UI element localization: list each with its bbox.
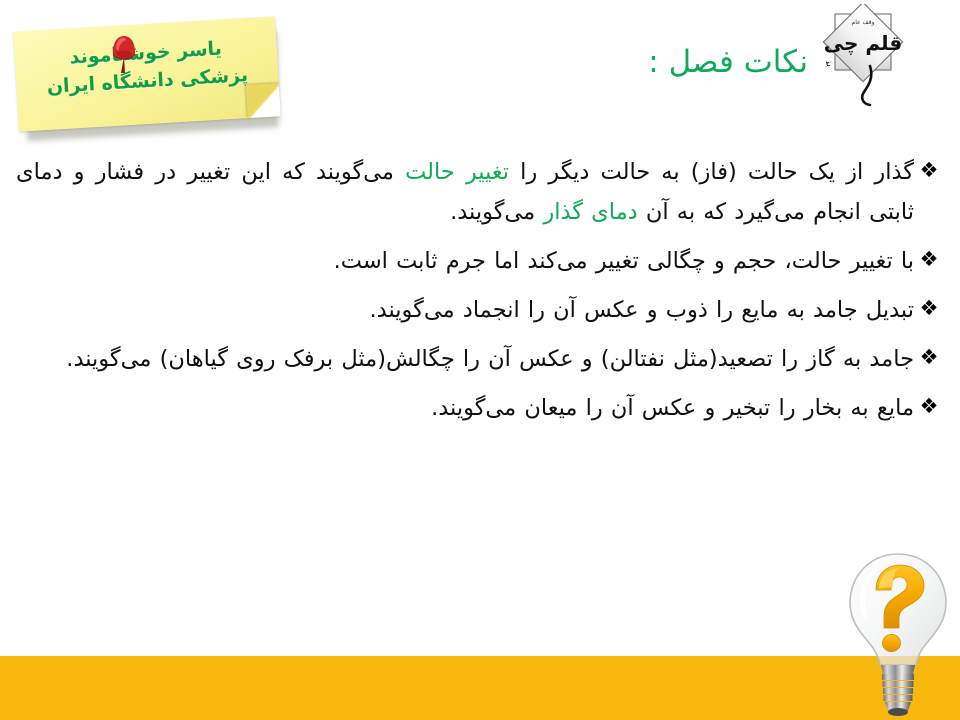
logo-top-text: وقف عام bbox=[851, 19, 874, 26]
text-run: جامد به گاز را تصعید(مثل نفتالن) و عکس آ… bbox=[66, 346, 914, 372]
bullet-text: جامد به گاز را تصعید(مثل نفتالن) و عکس آ… bbox=[16, 339, 914, 379]
sticky-note-paper: یاسر خوشناموند پزشکی دانشگاه ایران bbox=[13, 16, 280, 131]
sticky-note: یاسر خوشناموند پزشکی دانشگاه ایران bbox=[12, 24, 292, 136]
highlighted-term: تغییر حالت bbox=[405, 159, 509, 185]
slide-canvas: یاسر خوشناموند پزشکی دانشگاه ایران bbox=[0, 0, 960, 720]
bullet-item: ❖با تغییر حالت، حجم و چگالی تغییر می‌کند… bbox=[16, 241, 944, 281]
bottom-color-band bbox=[0, 656, 960, 720]
bullet-marker-icon: ❖ bbox=[914, 288, 944, 328]
sticky-note-text: یاسر خوشناموند پزشکی دانشگاه ایران bbox=[14, 32, 279, 103]
bullet-item: ❖مایع به بخار را تبخیر و عکس آن را میعان… bbox=[16, 388, 944, 428]
bullet-marker-icon: ❖ bbox=[914, 150, 944, 190]
highlighted-term: دمای گذار bbox=[543, 199, 637, 225]
bullet-list: ❖گذار از یک حالت (فاز) به حالت دیگر را ت… bbox=[16, 152, 944, 437]
bullet-text: تبدیل جامد به مایع را ذوب و عکس آن را ان… bbox=[16, 290, 914, 330]
pushpin-icon bbox=[104, 30, 144, 74]
bullet-item: ❖تبدیل جامد به مایع را ذوب و عکس آن را ا… bbox=[16, 290, 944, 330]
bullet-marker-icon: ❖ bbox=[914, 239, 944, 279]
text-run: با تغییر حالت، حجم و چگالی تغییر می‌کند … bbox=[334, 248, 914, 274]
sticky-note-fold-cutout bbox=[249, 86, 281, 118]
bullet-item: ❖گذار از یک حالت (فاز) به حالت دیگر را ت… bbox=[16, 152, 944, 232]
text-run: تبدیل جامد به مایع را ذوب و عکس آن را ان… bbox=[370, 297, 915, 323]
text-run: می‌گویند. bbox=[450, 199, 543, 225]
bulb-metal-base bbox=[881, 665, 915, 716]
bullet-marker-icon: ❖ bbox=[914, 386, 944, 426]
bullet-text: گذار از یک حالت (فاز) به حالت دیگر را تغ… bbox=[16, 152, 914, 232]
logo-center-text: قلم چی bbox=[824, 31, 903, 56]
question-mark-lightbulb-icon bbox=[838, 548, 958, 720]
bullet-text: مایع به بخار را تبخیر و عکس آن را میعان … bbox=[16, 388, 914, 428]
bullet-item: ❖جامد به گاز را تصعید(مثل نفتالن) و عکس … bbox=[16, 339, 944, 379]
bullet-marker-icon: ❖ bbox=[914, 337, 944, 377]
page-title: نکات فصل : bbox=[648, 44, 808, 80]
qalamchi-logo: قلم چی وقف عام بنیاد علمی آموزشی bbox=[808, 4, 946, 112]
text-run: مایع به بخار را تبخیر و عکس آن را میعان … bbox=[431, 395, 914, 421]
bullet-text: با تغییر حالت، حجم و چگالی تغییر می‌کند … bbox=[16, 241, 914, 281]
text-run: گذار از یک حالت (فاز) به حالت دیگر را bbox=[509, 159, 914, 185]
